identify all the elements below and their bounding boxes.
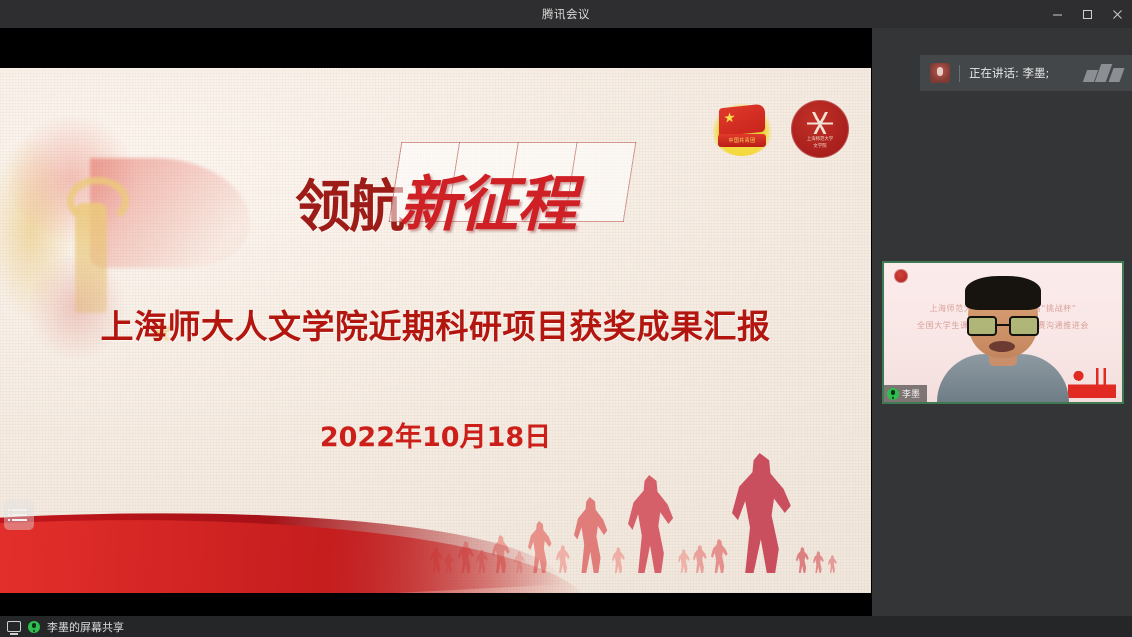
- speaker-avatar-icon: [930, 63, 950, 83]
- flag-decoration: [90, 158, 250, 268]
- shanghai-normal-university-seal-icon: 上海师范大学文学院: [791, 100, 849, 158]
- window-titlebar: 腾讯会议: [0, 0, 1132, 28]
- slide-letterbox-bottom: [0, 593, 871, 616]
- close-button[interactable]: [1102, 0, 1132, 28]
- slide-emblems: 中国共青团 上海师范大学文学院: [711, 98, 849, 160]
- close-icon: [1112, 9, 1123, 20]
- emblem-band-text: 中国共青团: [718, 134, 766, 147]
- speaking-indicator-banner: 正在讲话: 李墨;: [920, 55, 1132, 91]
- banner-divider: [959, 65, 960, 82]
- maximize-icon: [1082, 9, 1093, 20]
- share-status-bar: 李墨的屏幕共享: [0, 616, 1132, 637]
- headline-part2: 新征程: [399, 170, 576, 240]
- speaking-label: 正在讲话: 李墨;: [969, 65, 1049, 81]
- minimize-button[interactable]: [1042, 0, 1072, 28]
- window-title: 腾讯会议: [542, 6, 590, 22]
- slide-letterbox-top: [0, 28, 871, 68]
- mic-on-icon: [887, 388, 899, 400]
- communist-youth-league-emblem-icon: 中国共青团: [711, 98, 773, 160]
- participant-name-badge: 李墨: [884, 385, 927, 402]
- participant-list-toggle-button[interactable]: [4, 500, 34, 530]
- video-tile-participant[interactable]: 上海师范大学人文学院第八届“挑战杯” 全国大学生课外学术科技作品院赛沟通推进会: [882, 261, 1124, 404]
- mic-on-icon: [28, 621, 40, 633]
- shared-screen-area[interactable]: 中国共青团 上海师范大学文学院 领航 新征程 上海师大人文学院近期科研项目获奖成…: [0, 28, 872, 616]
- presentation-slide: 中国共青团 上海师范大学文学院 领航 新征程 上海师大人文学院近期科研项目获奖成…: [0, 68, 871, 593]
- participant-webcam-figure: [937, 278, 1069, 402]
- participants-rail: 正在讲话: 李墨; 上海师范大学人文学院第八届“挑战杯” 全国大学生课外学术科技…: [872, 28, 1132, 616]
- meeting-stage: 中国共青团 上海师范大学文学院 领航 新征程 上海师大人文学院近期科研项目获奖成…: [0, 28, 1132, 637]
- tencent-meeting-window: 腾讯会议: [0, 0, 1132, 637]
- maximize-button[interactable]: [1072, 0, 1102, 28]
- glasses-icon: [967, 316, 1039, 336]
- list-icon: [12, 509, 27, 521]
- minimize-icon: [1052, 9, 1063, 20]
- slide-title: 上海师大人文学院近期科研项目获奖成果汇报: [0, 300, 871, 348]
- university-round-logo-icon: [894, 269, 908, 283]
- share-status-label: 李墨的屏幕共享: [47, 619, 124, 635]
- skyline-decoration: [1068, 368, 1116, 398]
- window-controls: [1042, 0, 1132, 28]
- screen-share-icon: [7, 621, 21, 632]
- sound-wave-icon: [1085, 64, 1122, 82]
- participant-name: 李墨: [902, 387, 920, 400]
- tassel-decoration: [75, 203, 107, 313]
- headline-part1: 领航: [295, 162, 403, 243]
- slide-headline: 领航 新征程: [295, 156, 576, 243]
